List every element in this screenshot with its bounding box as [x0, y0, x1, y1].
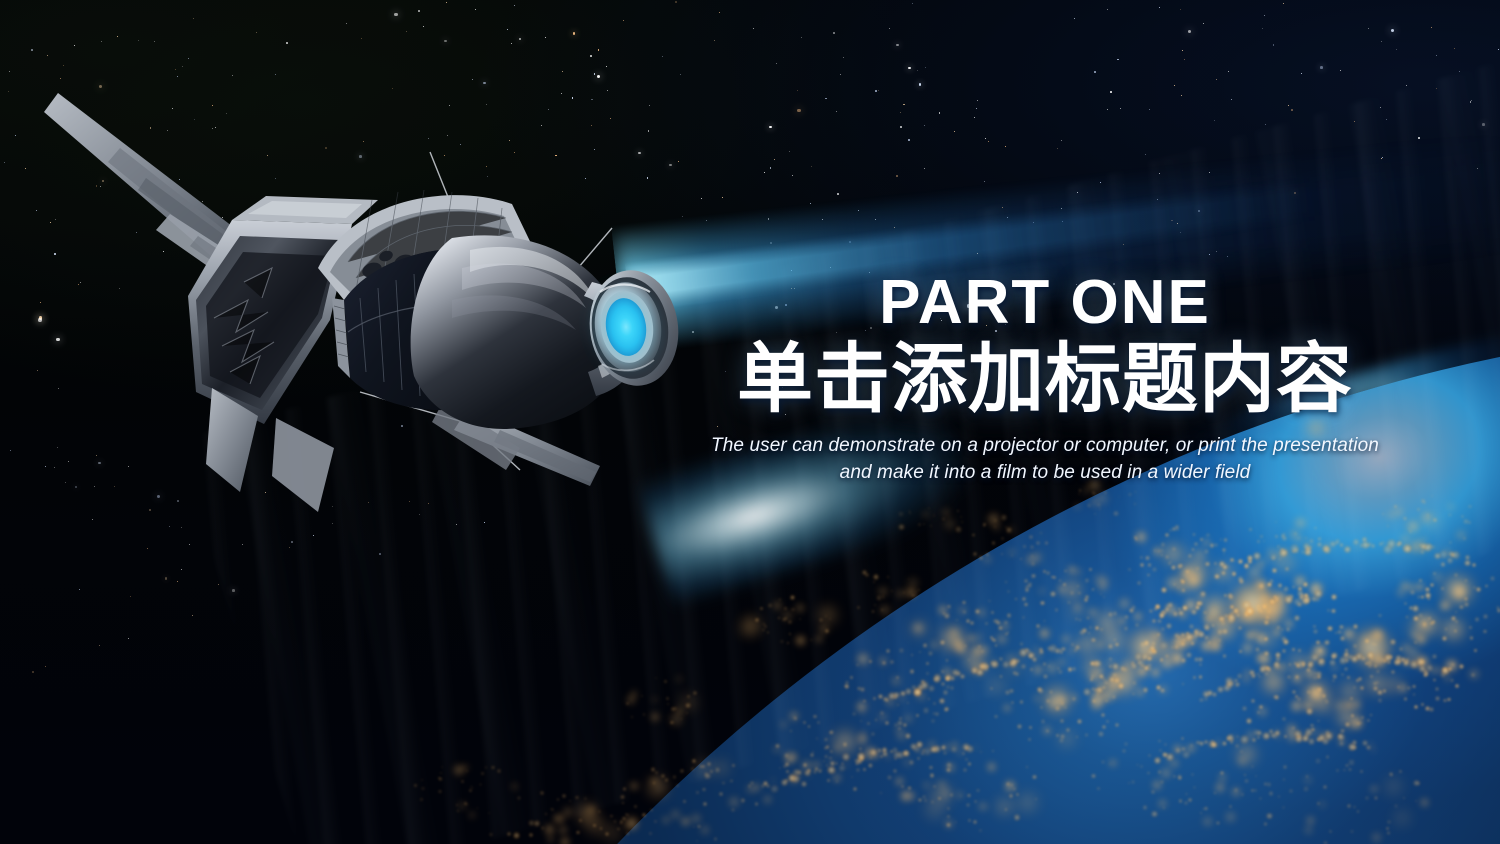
star — [401, 425, 403, 427]
star — [181, 527, 182, 528]
star — [1340, 70, 1341, 71]
star — [101, 41, 102, 42]
subtitle-line-2: and make it into a film to be used in a … — [840, 462, 1251, 483]
star — [924, 125, 925, 126]
star — [226, 113, 227, 114]
star — [394, 13, 397, 16]
star — [564, 322, 565, 323]
star — [1057, 148, 1058, 149]
presentation-slide: PART ONE 单击添加标题内容 The user can demonstra… — [0, 0, 1500, 844]
star — [129, 174, 131, 176]
star — [10, 450, 11, 451]
star — [130, 596, 131, 597]
subtitle: The user can demonstrate on a projector … — [700, 433, 1390, 487]
star — [1482, 123, 1485, 126]
star — [900, 126, 902, 128]
star — [31, 49, 33, 51]
star — [1431, 27, 1432, 28]
star — [776, 63, 777, 64]
star — [484, 522, 485, 523]
star — [508, 379, 509, 380]
star — [594, 149, 595, 150]
star — [444, 155, 445, 156]
subtitle-line-1: The user can demonstrate on a projector … — [711, 435, 1379, 456]
star — [177, 581, 178, 582]
star — [1188, 30, 1191, 33]
star — [836, 111, 837, 112]
star — [833, 32, 835, 34]
star — [267, 155, 268, 156]
star — [37, 370, 38, 371]
star — [57, 447, 58, 448]
star — [875, 90, 877, 92]
star — [177, 500, 179, 502]
star — [99, 645, 100, 646]
star — [409, 501, 410, 502]
star — [275, 178, 276, 179]
star — [58, 388, 59, 389]
star — [837, 193, 839, 195]
star — [606, 66, 607, 67]
star — [908, 139, 910, 141]
star — [507, 29, 508, 30]
slide-text-block: PART ONE 单击添加标题内容 The user can demonstra… — [690, 272, 1400, 486]
star — [45, 466, 46, 467]
star — [1436, 55, 1437, 56]
page-title: 单击添加标题内容 — [690, 340, 1400, 421]
star — [1291, 109, 1293, 111]
star — [607, 90, 608, 91]
section-label: PART ONE — [690, 272, 1400, 334]
star — [1077, 192, 1078, 193]
star — [680, 74, 681, 75]
star — [359, 155, 362, 158]
star — [1301, 73, 1302, 74]
star — [428, 503, 429, 504]
star — [325, 147, 327, 149]
star — [1320, 66, 1323, 69]
star — [858, 210, 859, 211]
star — [447, 135, 448, 136]
star — [545, 37, 546, 38]
star — [889, 28, 890, 29]
star — [363, 141, 364, 142]
star — [1145, 154, 1146, 155]
star — [418, 10, 420, 12]
star — [843, 57, 844, 58]
star — [8, 91, 9, 92]
star — [189, 544, 190, 545]
star — [194, 119, 195, 120]
star — [449, 105, 450, 106]
star — [985, 138, 986, 139]
star — [541, 125, 542, 126]
star — [368, 502, 369, 503]
star — [1123, 244, 1124, 245]
star — [590, 55, 592, 57]
star — [1418, 137, 1420, 139]
star — [100, 186, 101, 187]
star — [38, 318, 41, 321]
star — [1382, 157, 1383, 158]
star — [149, 509, 151, 511]
star — [1354, 121, 1355, 122]
star — [55, 219, 56, 220]
star — [232, 589, 235, 592]
star — [54, 253, 56, 255]
star — [379, 553, 381, 555]
star — [896, 175, 898, 177]
star — [128, 466, 129, 467]
star — [444, 40, 447, 43]
star — [286, 42, 288, 44]
star — [475, 9, 476, 10]
star — [770, 242, 772, 244]
star — [623, 20, 624, 21]
star — [753, 28, 754, 29]
star — [332, 506, 333, 507]
star — [1381, 158, 1382, 159]
star — [215, 127, 216, 128]
star — [1288, 105, 1289, 106]
star — [1180, 232, 1181, 233]
star — [1094, 71, 1096, 73]
star — [291, 541, 293, 543]
star — [54, 467, 55, 468]
star — [1184, 59, 1185, 60]
star — [56, 338, 59, 341]
star — [32, 671, 34, 673]
star — [377, 217, 378, 218]
star — [797, 109, 800, 112]
star — [840, 74, 841, 75]
star — [45, 666, 46, 667]
star — [483, 82, 486, 85]
